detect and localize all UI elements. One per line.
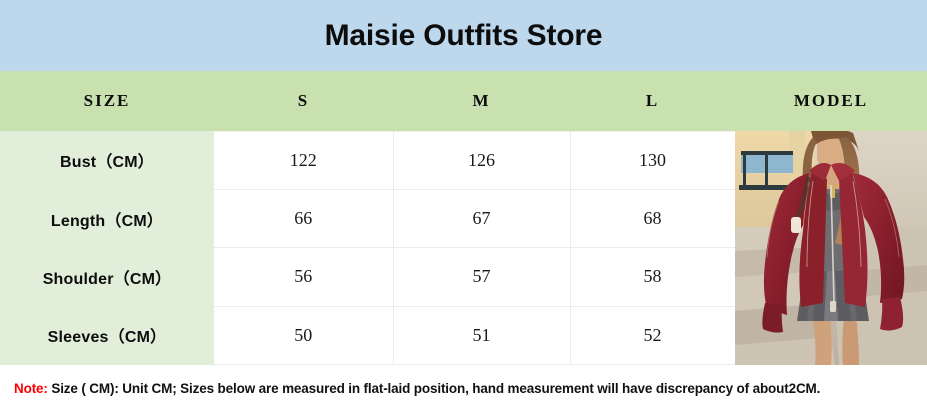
row-label-sleeves: Sleeves（CM） (0, 306, 214, 364)
cell-sleeves-m: 51 (393, 306, 570, 364)
row-label-length: Length（CM） (0, 189, 214, 247)
column-header-l: L (570, 71, 735, 131)
model-photo (735, 131, 927, 365)
size-chart-page: Maisie Outfits Store SIZE S M L MODEL Bu… (0, 0, 927, 412)
cell-shoulder-l: 58 (570, 248, 735, 306)
note-label: Note: (14, 381, 48, 396)
row-label-shoulder: Shoulder（CM） (0, 248, 214, 306)
cell-bust-s: 122 (214, 131, 393, 189)
page-title: Maisie Outfits Store (325, 19, 603, 53)
table-header-row: SIZE S M L MODEL (0, 71, 927, 131)
note-bar: Note: Size ( CM): Unit CM; Sizes below a… (0, 365, 927, 412)
cell-shoulder-m: 57 (393, 248, 570, 306)
cell-length-s: 66 (214, 189, 393, 247)
cell-bust-l: 130 (570, 131, 735, 189)
column-header-m: M (393, 71, 570, 131)
cell-length-m: 67 (393, 189, 570, 247)
cell-sleeves-s: 50 (214, 306, 393, 364)
cell-sleeves-l: 52 (570, 306, 735, 364)
cell-shoulder-s: 56 (214, 248, 393, 306)
cell-length-l: 68 (570, 189, 735, 247)
row-label-bust: Bust（CM） (0, 131, 214, 189)
column-header-s: S (214, 71, 393, 131)
note-body: Size ( CM): Unit CM; Sizes below are mea… (48, 381, 821, 396)
cell-bust-m: 126 (393, 131, 570, 189)
measurement-note: Note: Size ( CM): Unit CM; Sizes below a… (0, 381, 820, 396)
column-header-size: SIZE (0, 71, 214, 131)
column-header-model: MODEL (735, 71, 927, 131)
model-photo-illustration (735, 131, 927, 365)
store-title-banner: Maisie Outfits Store (0, 0, 927, 71)
